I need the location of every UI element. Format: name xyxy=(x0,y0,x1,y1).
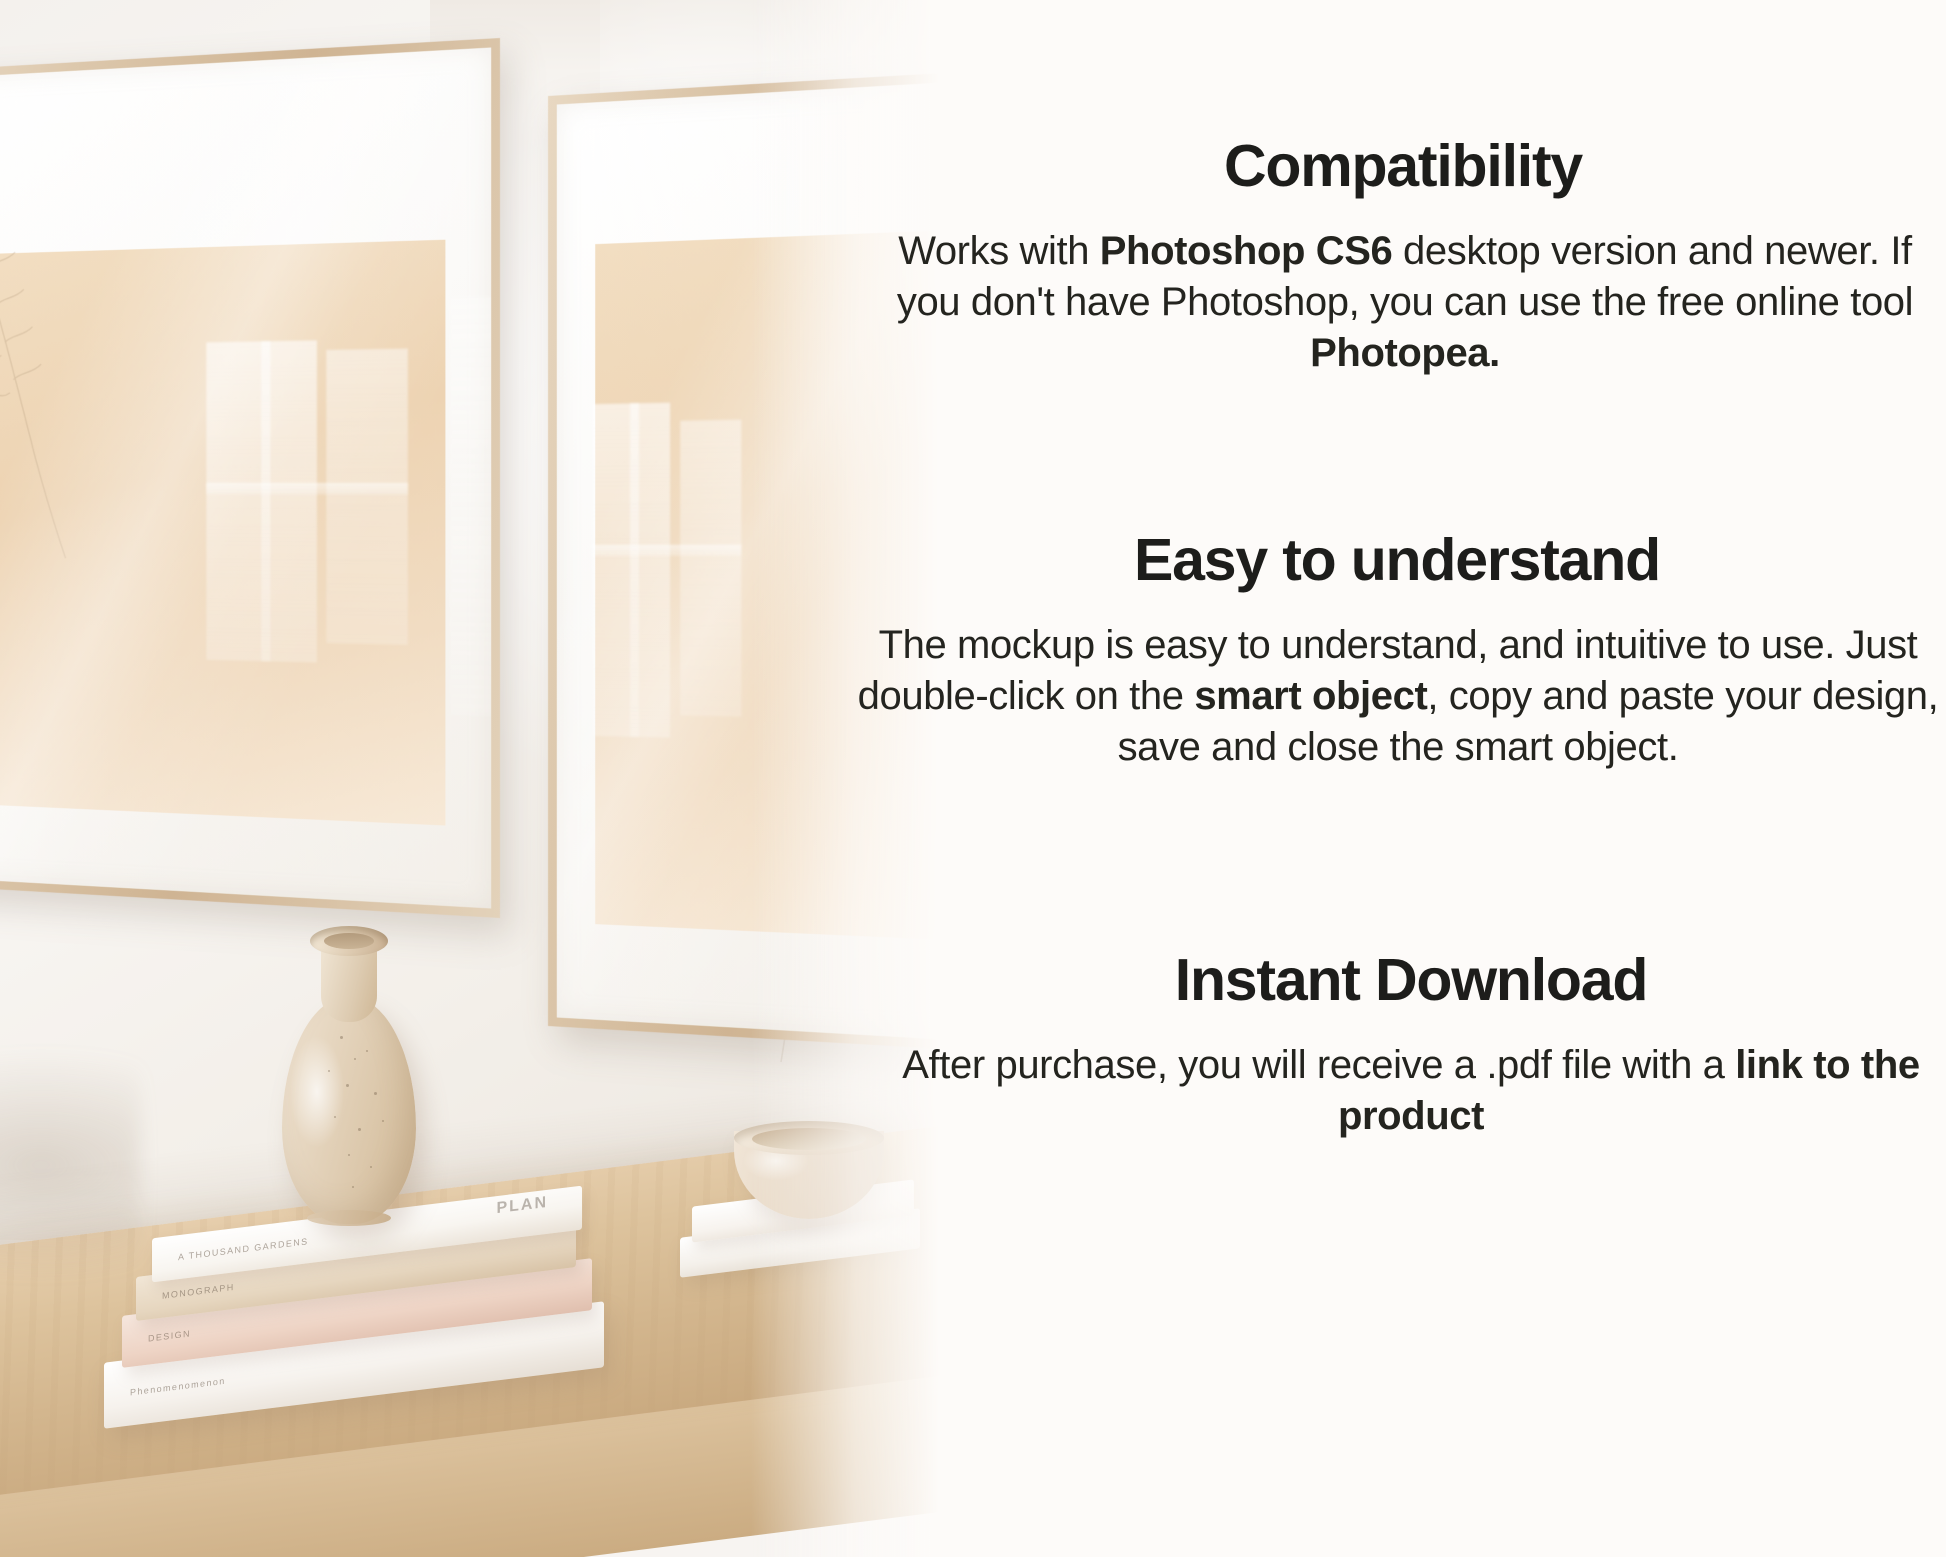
section-heading: Easy to understand xyxy=(830,530,1946,592)
body-text-bold-run: Photoshop CS6 xyxy=(1100,229,1393,273)
section-compatibility: Compatibility Works with Photoshop CS6 d… xyxy=(830,136,1946,380)
body-text-run: Works with xyxy=(898,229,1100,273)
vase-cast-shadow xyxy=(0,1050,140,1280)
body-text-run: After purchase, you will receive a .pdf … xyxy=(902,1043,1735,1087)
section-body: The mockup is easy to understand, and in… xyxy=(830,620,1946,774)
section-body: Works with Photoshop CS6 desktop version… xyxy=(830,226,1946,380)
product-listing-page: Phenomenomenon DESIGN MONOGRAPH A THOUSA… xyxy=(0,0,1946,1557)
body-text-bold-run: smart object xyxy=(1194,674,1427,718)
body-text-bold-run: Photopea. xyxy=(1310,331,1500,375)
book-spine-label: Phenomenomenon xyxy=(130,1376,226,1398)
section-body: After purchase, you will receive a .pdf … xyxy=(830,1040,1946,1142)
section-heading: Compatibility xyxy=(830,136,1946,198)
section-easy-to-understand: Easy to understand The mockup is easy to… xyxy=(830,530,1946,774)
vase-foot xyxy=(307,1210,391,1226)
vase-opening xyxy=(324,933,374,949)
ceramic-vase xyxy=(274,920,424,1230)
feature-text-panel: Compatibility Works with Photoshop CS6 d… xyxy=(830,0,1946,1557)
shelf-leg xyxy=(0,1448,100,1557)
interior-mockup-photo: Phenomenomenon DESIGN MONOGRAPH A THOUSA… xyxy=(0,0,940,1557)
frame-artwork xyxy=(0,240,445,826)
book-cover-title: PLAN xyxy=(496,1194,548,1218)
book-spine-label: A THOUSAND GARDENS xyxy=(178,1236,309,1262)
section-heading: Instant Download xyxy=(830,950,1946,1012)
section-instant-download: Instant Download After purchase, you wil… xyxy=(830,950,1946,1142)
book-spine-label: MONOGRAPH xyxy=(162,1282,235,1301)
picture-frame-left xyxy=(0,38,500,918)
book-spine-label: DESIGN xyxy=(148,1328,191,1343)
vase-body xyxy=(282,996,416,1224)
